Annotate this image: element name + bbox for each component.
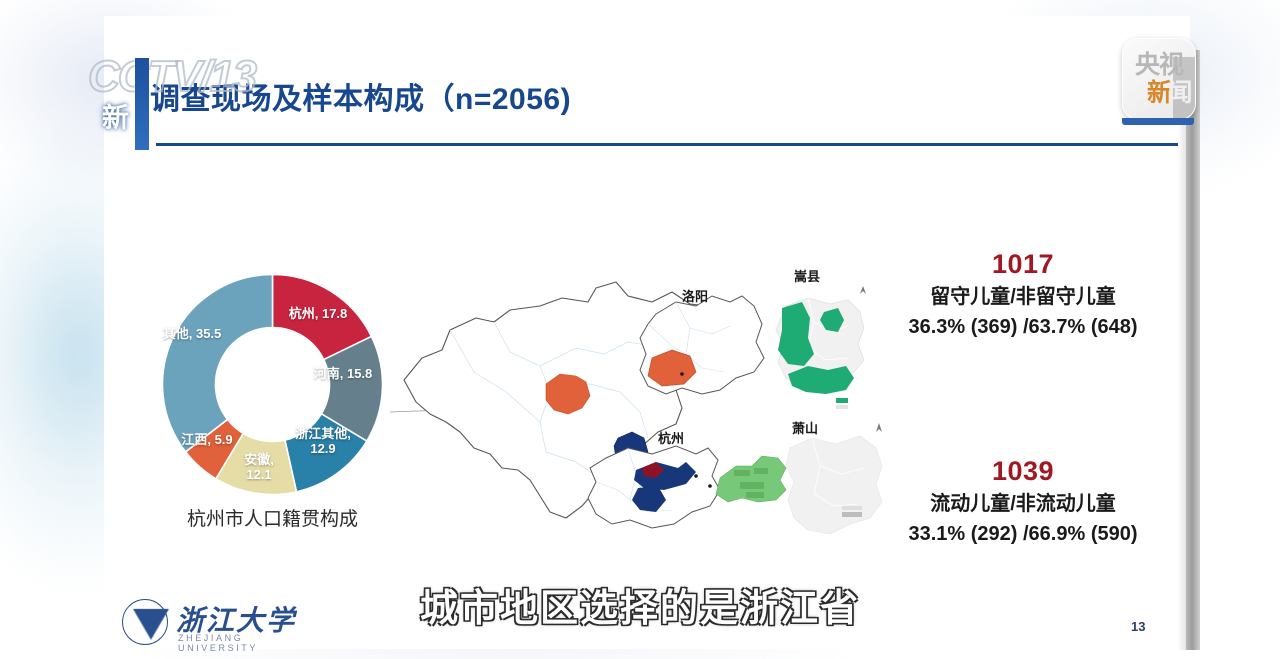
songxian-legend <box>836 398 848 409</box>
cctv-news-line1: 央视 <box>1123 53 1195 78</box>
broadcast-subtitle: 城市地区选择的是浙江省 <box>0 577 1280 632</box>
zhejiang-province-inset <box>588 446 720 528</box>
slide-edge-bar <box>1186 50 1200 650</box>
donut-chart-caption: 杭州市人口籍贯构成 <box>150 504 395 531</box>
zju-name-en: ZHEJIANG UNIVERSITY <box>178 633 322 653</box>
donut-label-zhejiang-other: 浙江其他, 12.9 <box>290 426 356 456</box>
page-title-text: 调查现场及样本构成（n=2056) <box>150 78 1150 122</box>
stat-block-migrant-children: 1039 流动儿童/非流动儿童 33.1% (292) /66.9% (590) <box>858 455 1188 548</box>
stat-percentages: 33.1% (292) /66.9% (590) <box>858 520 1188 548</box>
xiaoshan-point <box>708 484 712 488</box>
map-svg <box>390 262 890 562</box>
songxian-point <box>680 372 684 376</box>
donut-label-hangzhou: 杭州, 17.8 <box>288 306 348 321</box>
stat-number: 1017 <box>858 248 1188 280</box>
north-arrow-xiaoshan <box>876 423 882 432</box>
stat-percentages: 36.3% (369) /63.7% (648) <box>858 313 1188 341</box>
stat-number: 1039 <box>858 455 1188 487</box>
cctv-news-logo: 央视 新 闻 <box>1122 38 1196 120</box>
broadcast-frame: 调查现场及样本构成（n=2056) CCTV/13 新 央视 新 闻 杭州, 1… <box>0 0 1280 659</box>
map-label-xiaoshan: 萧山 <box>792 418 818 437</box>
title-underline <box>156 143 1178 146</box>
songxian-green-lower <box>788 366 854 394</box>
stat-block-left-behind-children: 1017 留守儿童/非留守儿童 36.3% (369) /63.7% (648) <box>858 248 1188 341</box>
map-label-hangzhou: 杭州 <box>658 428 684 447</box>
stat-category: 留守儿童/非留守儿童 <box>858 282 1188 312</box>
population-origin-donut-chart: 杭州, 17.8 河南, 15.8 浙江其他, 12.9 安徽, 12.1 江西… <box>150 272 390 552</box>
china-map-figure: 洛阳 嵩县 杭州 萧山 <box>390 262 890 562</box>
songxian-detail-inset <box>776 286 866 409</box>
map-label-luoyang: 洛阳 <box>682 286 708 305</box>
donut-label-jiangxi: 江西, 5.9 <box>179 432 235 447</box>
donut-label-other: 其他, 35.5 <box>162 326 222 341</box>
donut-label-henan: 河南, 15.8 <box>313 366 373 381</box>
cctv-news-underbar <box>1122 118 1194 125</box>
donut-segment-其他 <box>163 275 273 452</box>
cctv-news-line2b: 闻 <box>1167 81 1193 106</box>
donut-label-anhui: 安徽, 12.1 <box>230 452 288 482</box>
xiaoshan-detail-inset <box>708 423 882 534</box>
page-title: 调查现场及样本构成（n=2056) <box>150 78 1150 138</box>
map-label-songxian: 嵩县 <box>794 266 820 285</box>
hangzhou-point <box>694 474 698 478</box>
stat-category: 流动儿童/非流动儿童 <box>858 489 1188 519</box>
